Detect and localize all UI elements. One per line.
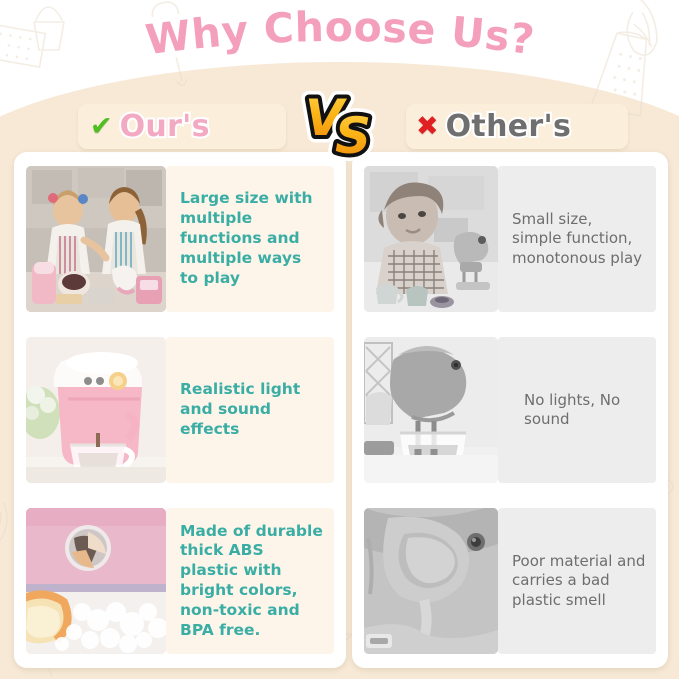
svg-text:Why Choose Us?: Why Choose Us?: [142, 3, 536, 64]
ours-text-3: Made of durable thick ABS plastic with b…: [180, 522, 324, 641]
pink-toaster-closeup-with-bread-slice: [26, 508, 166, 654]
grayscale-plastic-mixer-closeup: [364, 508, 498, 654]
vs-badge: V V V S S S: [287, 83, 397, 161]
page-title-text: Why Choose Us?: [142, 3, 536, 64]
others-card: Small size, simple function, monotonous …: [352, 152, 668, 668]
others-row-3: Poor material and carries a bad plastic …: [364, 508, 656, 654]
pink-toy-coffee-maker-with-carafe: [26, 337, 166, 483]
ours-panel-2: Realistic light and sound effects: [166, 337, 334, 483]
ours-card: Large size with multiple functions and m…: [14, 152, 346, 668]
others-text-2: No lights, No sound: [524, 391, 646, 429]
ours-header-pill[interactable]: ✔ Our's: [78, 104, 286, 149]
others-label: Other's: [446, 109, 571, 144]
ours-panel-3: Made of durable thick ABS plastic with b…: [166, 508, 334, 654]
ours-text-2: Realistic light and sound effects: [180, 380, 324, 439]
others-panel-3: Poor material and carries a bad plastic …: [498, 508, 656, 654]
ours-text-1: Large size with multiple functions and m…: [180, 189, 324, 288]
ours-row-1: Large size with multiple functions and m…: [26, 166, 334, 312]
check-mark-icon: ✔: [90, 113, 113, 140]
others-row-2: No lights, No sound: [364, 337, 656, 483]
others-text-3: Poor material and carries a bad plastic …: [512, 552, 646, 610]
others-panel-2: No lights, No sound: [498, 337, 656, 483]
grayscale-toddler-with-small-toy-mixer: [364, 166, 498, 312]
infographic-canvas: Why Choose Us? Why Choose Us? ✔ Our's V …: [0, 0, 679, 679]
page-title: Why Choose Us? Why Choose Us?: [0, 12, 679, 74]
ours-row-3: Made of durable thick ABS plastic with b…: [26, 508, 334, 654]
others-panel-1: Small size, simple function, monotonous …: [498, 166, 656, 312]
ours-panel-1: Large size with multiple functions and m…: [166, 166, 334, 312]
others-row-1: Small size, simple function, monotonous …: [364, 166, 656, 312]
ours-row-2: Realistic light and sound effects: [26, 337, 334, 483]
grayscale-hand-mixer-over-bowl: [364, 337, 498, 483]
vs-label-s: S: [335, 107, 371, 165]
cross-mark-icon: ✖: [416, 113, 439, 140]
others-header-pill[interactable]: ✖ Other's: [406, 104, 628, 149]
two-girls-playing-with-pink-kitchen-toy-set: [26, 166, 166, 312]
others-text-1: Small size, simple function, monotonous …: [512, 210, 646, 268]
ours-label: Our's: [120, 109, 210, 144]
